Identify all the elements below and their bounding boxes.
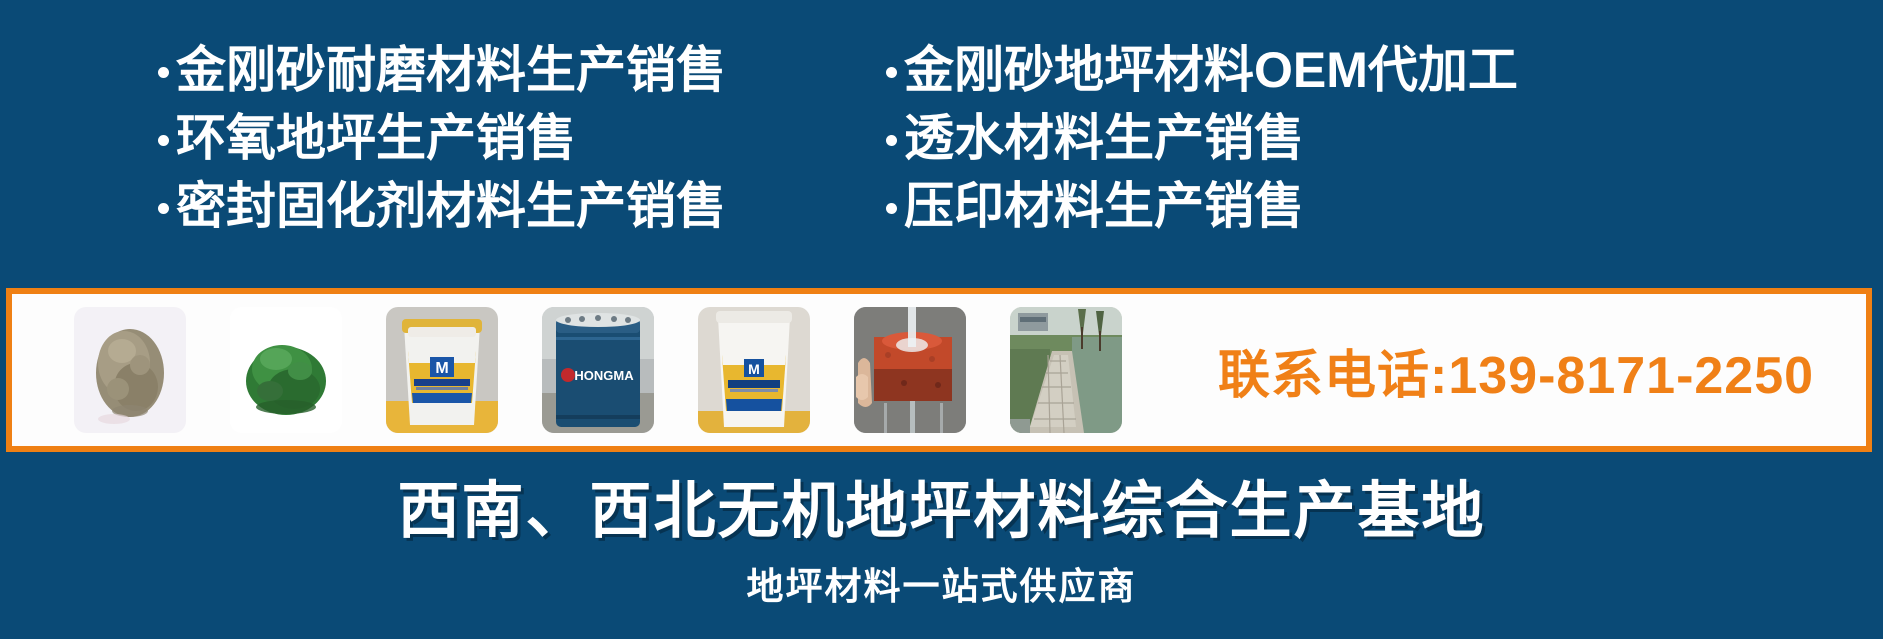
feature-bullet-label: 压印材料生产销售 xyxy=(904,181,1304,231)
feature-column-left: 金刚砂耐磨材料生产销售 环氧地坪生产销售 密封固化剂材料生产销售 xyxy=(158,36,858,246)
sealer-bucket-image: M xyxy=(386,307,498,433)
product-thumbnail-list: M xyxy=(74,307,1122,433)
svg-text:M: M xyxy=(748,361,760,377)
bullet-dot-icon xyxy=(886,203,897,214)
feature-bullet-label: 金刚砂耐磨材料生产销售 xyxy=(176,45,726,95)
permeable-concrete-sample-image xyxy=(854,307,966,433)
feature-bullet-item: 压印材料生产销售 xyxy=(886,172,1686,240)
bullet-dot-icon xyxy=(886,135,897,146)
feature-bullet-item: 金刚砂耐磨材料生产销售 xyxy=(158,36,858,104)
feature-column-right: 金刚砂地坪材料OEM代加工 透水材料生产销售 压印材料生产销售 xyxy=(886,36,1686,246)
hongma-drum-image: HONGMA xyxy=(542,307,654,433)
feature-bullet-label: 环氧地坪生产销售 xyxy=(176,113,576,163)
promotional-banner: 金刚砂耐磨材料生产销售 环氧地坪生产销售 密封固化剂材料生产销售 金刚砂地坪材料… xyxy=(0,0,1883,639)
green-aggregate-powder-image xyxy=(230,307,342,433)
svg-text:HONGMA: HONGMA xyxy=(574,368,634,383)
stamped-concrete-path-image xyxy=(1010,307,1122,433)
feature-bullet-lists: 金刚砂耐磨材料生产销售 环氧地坪生产销售 密封固化剂材料生产销售 金刚砂地坪材料… xyxy=(0,36,1883,246)
page-subtitle: 地坪材料一站式供应商 xyxy=(0,556,1883,610)
bullet-dot-icon xyxy=(158,67,169,78)
product-strip: M xyxy=(6,288,1872,452)
feature-bullet-item: 金刚砂地坪材料OEM代加工 xyxy=(886,36,1686,104)
contact-phone-number[interactable]: 联系电话:139-8171-2250 xyxy=(1218,333,1814,408)
bullet-dot-icon xyxy=(158,135,169,146)
feature-bullet-item: 密封固化剂材料生产销售 xyxy=(158,172,858,240)
epoxy-coating-bucket-image: M xyxy=(698,307,810,433)
bullet-dot-icon xyxy=(158,203,169,214)
feature-bullet-label: 透水材料生产销售 xyxy=(904,113,1304,163)
feature-bullet-item: 环氧地坪生产销售 xyxy=(158,104,858,172)
bullet-dot-icon xyxy=(886,67,897,78)
gray-aggregate-powder-image xyxy=(74,307,186,433)
svg-text:M: M xyxy=(435,360,448,377)
feature-bullet-item: 透水材料生产销售 xyxy=(886,104,1686,172)
page-title: 西南、西北无机地坪材料综合生产基地 xyxy=(0,460,1883,550)
feature-bullet-label: 密封固化剂材料生产销售 xyxy=(176,181,726,231)
feature-bullet-label: 金刚砂地坪材料OEM代加工 xyxy=(904,45,1518,95)
